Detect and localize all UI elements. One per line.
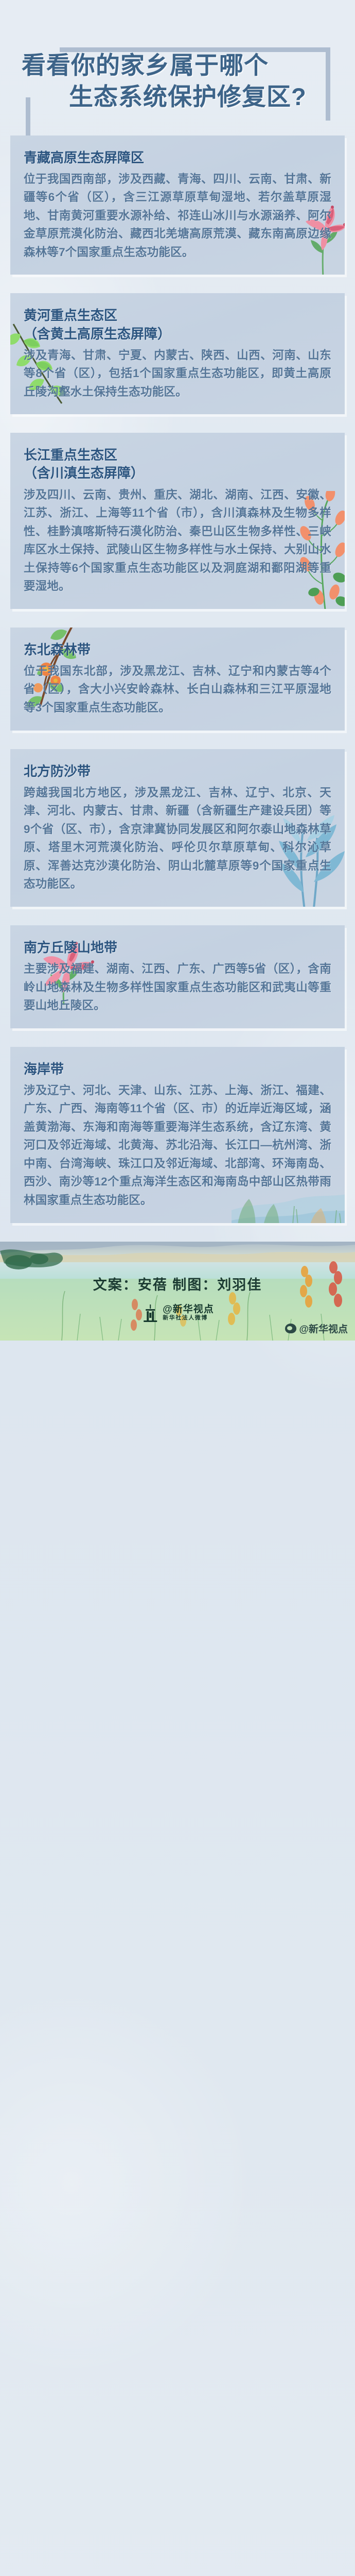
page-title-line-2: 生态系统保护修复区? [69,82,336,111]
eco-zone-description: 涉及辽宁、河北、天津、山东、江苏、上海、浙江、福建、广东、广西、海南等11个省（… [24,1081,331,1210]
eco-zone-title-main: 海岸带 [24,1061,64,1077]
xinhua-logo: @新华视点 新华社法人微博 [141,1303,214,1323]
footer-banner: 文案：安蓓 制图：刘羽佳 @新华视点 新华社法人微博 @新华视点 [0,1242,355,1341]
weibo-watermark-text: @新华视点 [299,1321,348,1335]
eco-zone-title: 东北森林带 [24,641,331,659]
weibo-icon [285,1324,296,1333]
eco-zone-subtitle: （含黄土高原生态屏障） [24,325,331,343]
eco-zone-description: 跨越我国北方地区，涉及黑龙江、吉林、辽宁、北京、天津、河北、内蒙古、甘肃、新疆（… [24,784,331,893]
eco-zone-card-northern-sand-belt: 北方防沙带跨越我国北方地区，涉及黑龙江、吉林、辽宁、北京、天津、河北、内蒙古、甘… [10,749,345,907]
xinhua-logo-secondary: 新华社法人微博 [163,1315,214,1321]
eco-zone-title-main: 青藏高原生态屏障区 [24,150,144,165]
eco-zone-title-main: 北方防沙带 [24,764,91,779]
eco-zone-title: 青藏高原生态屏障区 [24,149,331,167]
eco-zone-description: 位于我国东北部，涉及黑龙江、吉林、辽宁和内蒙古等4个省（区），含大小兴安岭森林、… [24,662,331,717]
eco-zone-title-main: 长江重点生态区 [24,447,117,463]
eco-zone-title-main: 南方丘陵山地带 [24,940,117,955]
eco-zone-title-main: 东北森林带 [24,642,91,657]
eco-zone-card-list: 青藏高原生态屏障区位于我国西南部，涉及西藏、青海、四川、云南、甘肃、新疆等6个省… [0,135,355,1223]
eco-zone-card-yellow-river: 黄河重点生态区（含黄土高原生态屏障）涉及青海、甘肃、宁夏、内蒙古、陕西、山西、河… [10,293,345,414]
footer-credit-text: 文案：安蓓 制图：刘羽佳 [0,1274,355,1294]
eco-zone-description: 主要涉及福建、湖南、江西、广东、广西等5省（区），含南岭山地森林及生物多样性国家… [24,960,331,1015]
eco-zone-card-south-hills-mountains: 南方丘陵山地带主要涉及福建、湖南、江西、广东、广西等5省（区），含南岭山地森林及… [10,925,345,1028]
eco-zone-card-northeast-forest-belt: 东北森林带位于我国东北部，涉及黑龙江、吉林、辽宁和内蒙古等4个省（区），含大小兴… [10,628,345,731]
eco-zone-title: 海岸带 [24,1060,331,1078]
xinhua-logo-text: @新华视点 新华社法人微博 [163,1304,214,1321]
xinhua-mark-icon [141,1303,159,1323]
xinhua-logo-primary: @新华视点 [163,1304,214,1315]
eco-zone-card-yangtze-river: 长江重点生态区（含川滇生态屏障）涉及四川、云南、贵州、重庆、湖北、湖南、江西、安… [10,433,345,608]
eco-zone-description: 涉及青海、甘肃、宁夏、内蒙古、陕西、山西、河南、山东等8个省（区），包括1个国家… [24,346,331,401]
eco-zone-description: 位于我国西南部，涉及西藏、青海、四川、云南、甘肃、新疆等6个省（区），含三江源草… [24,170,331,262]
eco-zone-title: 黄河重点生态区（含黄土高原生态屏障） [24,307,331,343]
eco-zone-title: 北方防沙带 [24,762,331,781]
title-decorative-frame: 看看你的家乡属于哪个 生态系统保护修复区? [13,23,342,120]
eco-zone-subtitle: （含川滇生态屏障） [24,464,331,482]
page-title-line-1: 看看你的家乡属于哪个 [22,50,336,80]
eco-zone-title-main: 黄河重点生态区 [24,308,117,323]
page-header: 看看你的家乡属于哪个 生态系统保护修复区? [0,0,355,135]
weibo-watermark: @新华视点 [285,1321,348,1335]
eco-zone-description: 涉及四川、云南、贵州、重庆、湖北、湖南、江西、安徽、江苏、浙江、上海等11个省（… [24,486,331,596]
eco-zone-card-coastal-belt: 海岸带涉及辽宁、河北、天津、山东、江苏、上海、浙江、福建、广东、广西、海南等11… [10,1047,345,1223]
eco-zone-title: 长江重点生态区（含川滇生态屏障） [24,446,331,482]
eco-zone-title: 南方丘陵山地带 [24,939,331,957]
eco-zone-card-qinghai-tibet: 青藏高原生态屏障区位于我国西南部，涉及西藏、青海、四川、云南、甘肃、新疆等6个省… [10,135,345,275]
